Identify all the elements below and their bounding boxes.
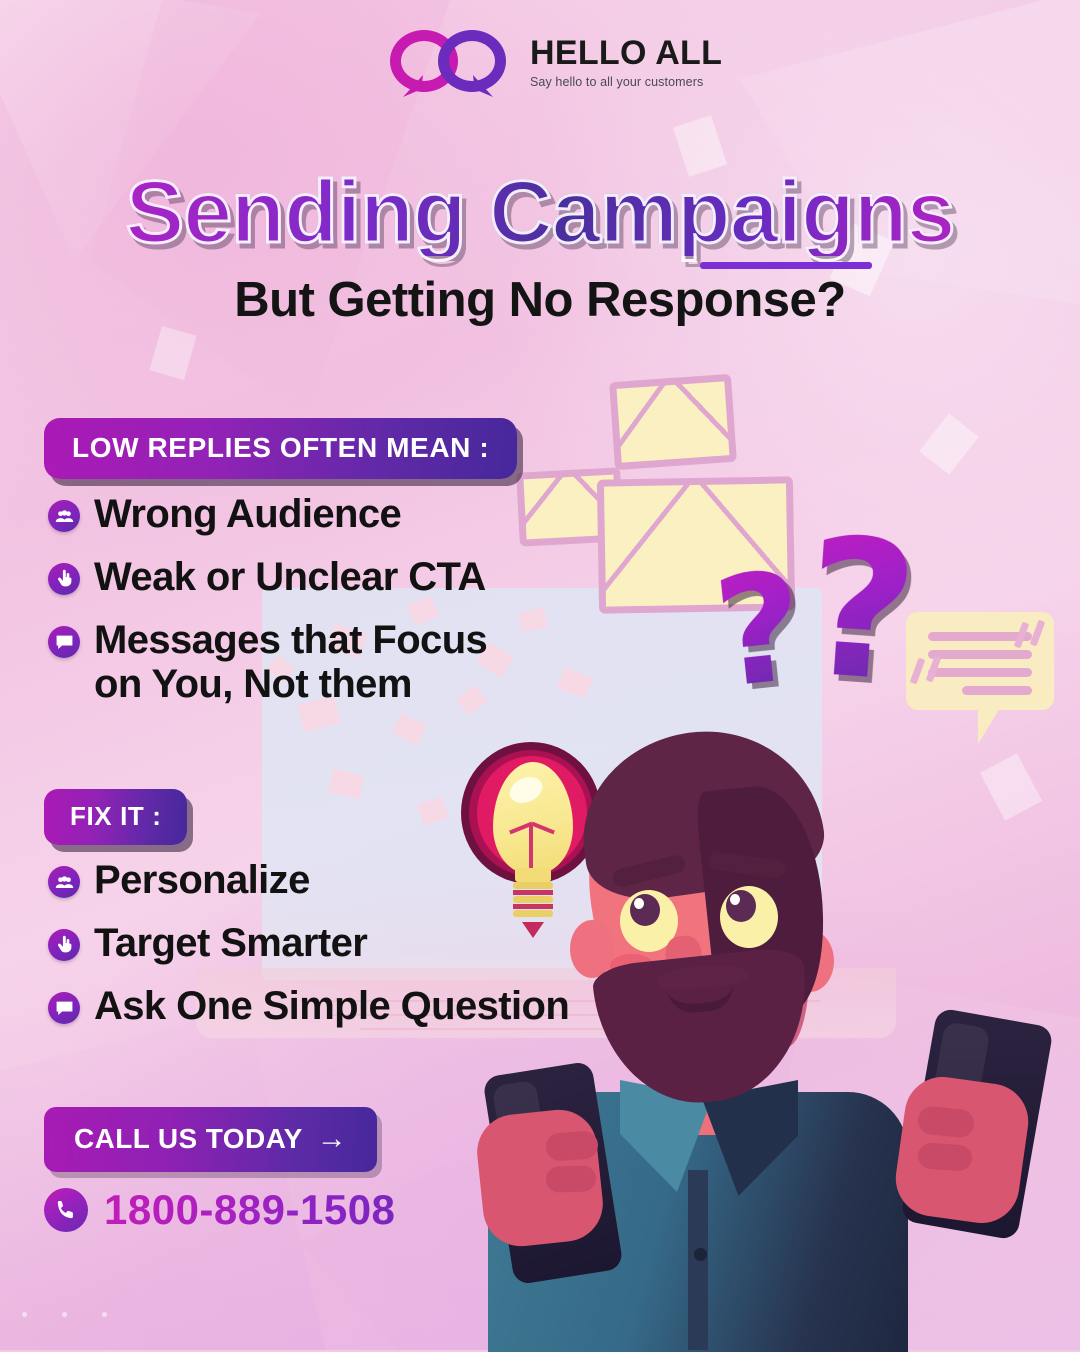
problem-list: Wrong Audience Weak or Unclear CTA Messa… xyxy=(48,492,487,725)
content-layer: HELLO ALL Say hello to all your customer… xyxy=(0,0,1080,1350)
list-item-label: Messages that Focus on You, Not them xyxy=(94,618,487,708)
section-badge-fixes: FIX IT : xyxy=(44,789,187,845)
list-item: Personalize xyxy=(48,858,569,903)
brand-tagline: Say hello to all your customers xyxy=(530,75,722,89)
list-item: Wrong Audience xyxy=(48,492,487,537)
list-item-label: Personalize xyxy=(94,858,310,903)
users-group-icon xyxy=(48,866,80,898)
cta-label: CALL US TODAY xyxy=(74,1123,303,1155)
list-item: Messages that Focus on You, Not them xyxy=(48,618,487,708)
phone-contact[interactable]: 1800-889-1508 xyxy=(44,1186,395,1234)
list-item-label: Ask One Simple Question xyxy=(94,984,569,1029)
phone-handset-icon xyxy=(44,1188,88,1232)
speech-bubble-right xyxy=(438,30,506,92)
page-title: Sending Campaigns xyxy=(0,168,1080,256)
brand-name: HELLO ALL xyxy=(530,36,722,70)
list-item: Target Smarter xyxy=(48,921,569,966)
double-speech-bubble-icon xyxy=(390,26,520,98)
section-badge-problems: LOW REPLIES OFTEN MEAN : xyxy=(44,418,517,479)
list-item-label: Weak or Unclear CTA xyxy=(94,555,486,600)
arrow-right-icon: → xyxy=(317,1124,347,1154)
users-group-icon xyxy=(48,500,80,532)
title-underline-accent xyxy=(700,262,872,269)
call-us-today-button[interactable]: CALL US TODAY → xyxy=(44,1107,377,1172)
list-item-label: Target Smarter xyxy=(94,921,367,966)
page-subtitle: But Getting No Response? xyxy=(0,272,1080,328)
brand-text: HELLO ALL Say hello to all your customer… xyxy=(530,36,722,89)
chat-message-icon xyxy=(48,992,80,1024)
list-item-label: Wrong Audience xyxy=(94,492,401,537)
brand-logo: HELLO ALL Say hello to all your customer… xyxy=(390,26,722,98)
fix-list: Personalize Target Smarter Ask One Simpl… xyxy=(48,858,569,1046)
hand-pointer-icon xyxy=(48,563,80,595)
list-item: Ask One Simple Question xyxy=(48,984,569,1029)
phone-number: 1800-889-1508 xyxy=(104,1186,395,1234)
chat-message-icon xyxy=(48,626,80,658)
hand-pointer-icon xyxy=(48,929,80,961)
list-item: Weak or Unclear CTA xyxy=(48,555,487,600)
